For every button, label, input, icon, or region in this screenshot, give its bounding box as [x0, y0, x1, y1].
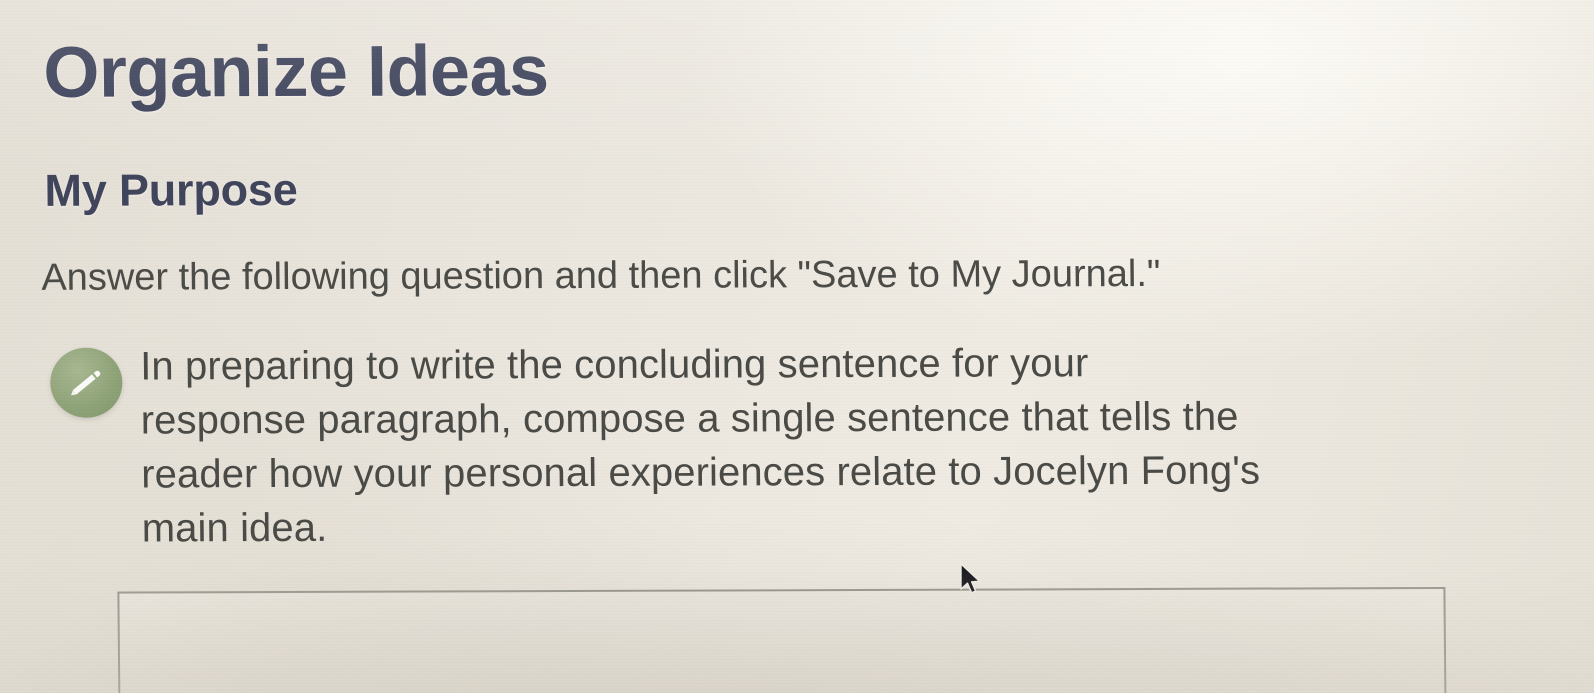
prompt-line: response paragraph, compose a single sen…	[140, 389, 1561, 448]
instruction-text: Answer the following question and then c…	[41, 254, 1160, 300]
section-title: My Purpose	[44, 167, 297, 213]
answer-textarea[interactable]	[117, 587, 1446, 693]
app-screen: Organize Ideas My Purpose Answer the fol…	[0, 0, 1594, 693]
pencil-icon	[50, 348, 123, 418]
page-title: Organize Ideas	[43, 35, 549, 109]
prompt-question: In preparing to write the concluding sen…	[140, 335, 1562, 556]
prompt-row: In preparing to write the concluding sen…	[44, 335, 1544, 340]
prompt-line: reader how your personal experiences rel…	[141, 443, 1562, 502]
prompt-line: In preparing to write the concluding sen…	[140, 335, 1561, 394]
page-content: Organize Ideas My Purpose Answer the fol…	[0, 0, 1594, 693]
prompt-line: main idea.	[141, 497, 1562, 556]
